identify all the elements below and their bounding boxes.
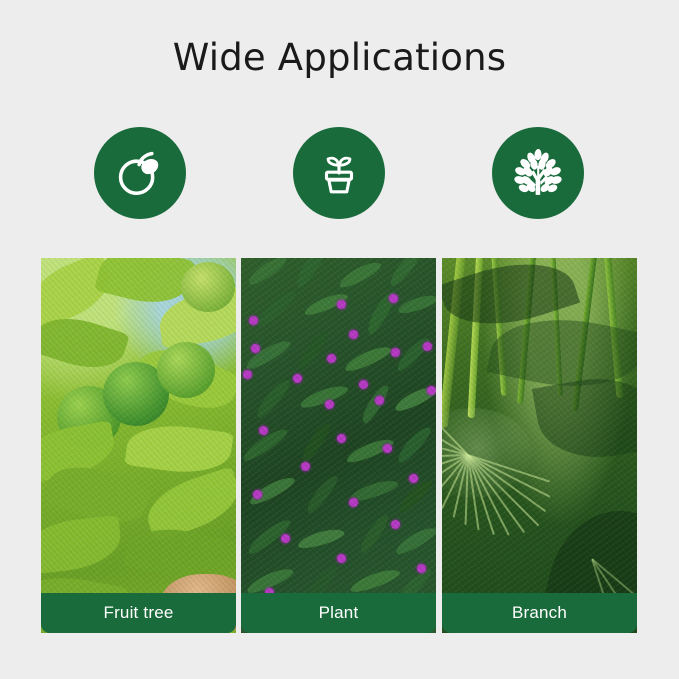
badge-tree	[492, 127, 584, 219]
card-branch[interactable]: Branch	[442, 258, 637, 633]
card-caption-plant: Plant	[241, 593, 436, 633]
tree-icon	[510, 145, 566, 201]
card-fruit-tree[interactable]: Fruit tree	[41, 258, 236, 633]
photo-branch	[442, 258, 637, 633]
fruit-icon	[113, 146, 167, 200]
photo-fruit-tree	[41, 258, 236, 633]
potted-plant-icon	[314, 148, 364, 198]
promo-graphic: Wide Applications	[0, 0, 679, 679]
card-caption-branch: Branch	[442, 593, 637, 633]
application-card-row: Fruit tree	[41, 258, 637, 633]
page-title: Wide Applications	[0, 36, 679, 80]
card-caption-fruit-tree: Fruit tree	[41, 593, 236, 633]
badge-plant	[293, 127, 385, 219]
card-plant[interactable]: Plant	[241, 258, 436, 633]
icon-badge-row	[41, 127, 637, 225]
photo-plant	[241, 258, 436, 633]
badge-fruit	[94, 127, 186, 219]
